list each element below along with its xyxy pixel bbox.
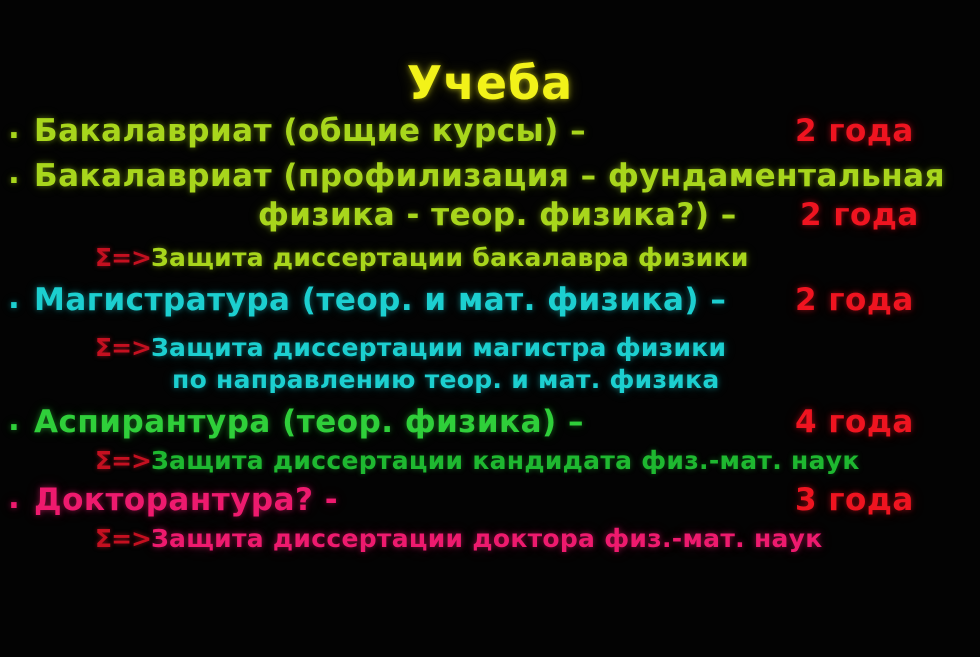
duration-5: 3 года — [795, 482, 914, 518]
sub-item-3-1: Σ=>Защита диссертации магистра физики — [95, 333, 726, 362]
list-item-label-2: Бакалавриат (профилизация – фундаменталь… — [34, 158, 945, 194]
page-title: Учеба — [0, 56, 980, 110]
sub-item-5-1-text: Защита диссертации доктора физ.-мат. нау… — [151, 524, 823, 553]
sub-item-2-1: Σ=>Защита диссертации бакалавра физики — [95, 243, 749, 272]
sub-item-4-1-text: Защита диссертации кандидата физ.-мат. н… — [151, 446, 860, 475]
sub-item-4-1: Σ=>Защита диссертации кандидата физ.-мат… — [95, 446, 860, 475]
duration-1: 2 года — [795, 113, 914, 149]
bullet-glyph-5: · — [8, 488, 20, 524]
list-item-label-4: Аспирантура (теор. физика) – — [34, 404, 584, 440]
list-item-label-3: Магистратура (теор. и мат. физика) – — [34, 282, 726, 318]
duration-3: 2 года — [795, 282, 914, 318]
slide-canvas: Учеба · Бакалавриат (общие курсы) – 2 го… — [0, 0, 980, 657]
list-item-label-2-line2: физика - теор. физика?) – — [258, 197, 737, 233]
bullet-glyph-4: · — [8, 410, 20, 446]
list-item-label-1: Бакалавриат (общие курсы) – — [34, 113, 586, 149]
duration-4: 4 года — [795, 404, 914, 440]
bullet-glyph-3: · — [8, 288, 20, 324]
sigma-arrow-icon: Σ=> — [95, 446, 151, 475]
duration-2: 2 года — [800, 197, 919, 233]
bullet-glyph-2: · — [8, 163, 20, 199]
list-item-label-5: Докторантура? - — [34, 482, 338, 518]
sub-item-3-1-text: Защита диссертации магистра физики — [151, 333, 726, 362]
sigma-arrow-icon: Σ=> — [95, 243, 151, 272]
sigma-arrow-icon: Σ=> — [95, 524, 151, 553]
sub-item-5-1: Σ=>Защита диссертации доктора физ.-мат. … — [95, 524, 823, 553]
sigma-arrow-icon: Σ=> — [95, 333, 151, 362]
sub-item-3-2-text: по направлению теор. и мат. физика — [172, 365, 720, 394]
bullet-glyph-1: · — [8, 118, 20, 154]
sub-item-2-1-text: Защита диссертации бакалавра физики — [151, 243, 749, 272]
